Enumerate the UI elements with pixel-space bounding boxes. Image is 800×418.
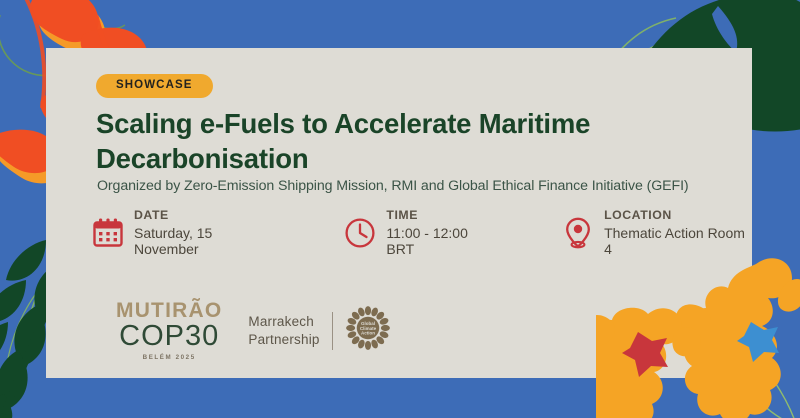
meta-value-time: 11:00 - 12:00 BRT (386, 225, 495, 258)
calendar-icon (91, 216, 125, 250)
showcase-badge: SHOWCASE (96, 74, 213, 98)
mutirao-wordmark: MUTIRÃO (116, 300, 222, 321)
gca-line-3: Action (361, 331, 375, 336)
marrakech-partnership-text: Marrakech Partnership (248, 313, 331, 348)
organizer-text: Organized by Zero-Emission Shipping Miss… (97, 178, 689, 194)
meta-item-location: LOCATION Thematic Action Room 4 (561, 208, 751, 258)
marrakech-line-1: Marrakech (248, 313, 319, 330)
event-poster: SHOWCASE Scaling e-Fuels to Accelerate M… (0, 0, 800, 418)
logo-divider (332, 312, 333, 350)
meta-value-location: Thematic Action Room 4 (604, 225, 751, 258)
location-pin-icon (561, 216, 595, 250)
belem-2025-text: BELÉM 2025 (116, 355, 222, 361)
meta-label-location: LOCATION (604, 208, 751, 223)
global-climate-action-icon: Global Climate Action (345, 305, 391, 356)
event-card: SHOWCASE Scaling e-Fuels to Accelerate M… (46, 48, 752, 378)
logo-row: MUTIRÃO COP30 BELÉM 2025 Marrakech Partn… (116, 300, 391, 361)
marrakech-line-2: Partnership (248, 331, 319, 348)
clock-icon (343, 216, 377, 250)
meta-item-time: TIME 11:00 - 12:00 BRT (343, 208, 495, 258)
meta-value-date: Saturday, 15 November (134, 225, 275, 258)
cop30-wordmark: COP30 (116, 322, 222, 351)
meta-item-date: DATE Saturday, 15 November (91, 208, 275, 258)
marrakech-partnership-logo: Marrakech Partnership (248, 305, 390, 356)
meta-label-time: TIME (386, 208, 495, 223)
event-meta-row: DATE Saturday, 15 November TIME 11:00 - … (91, 208, 751, 258)
meta-label-date: DATE (134, 208, 275, 223)
page-title: Scaling e-Fuels to Accelerate Maritime D… (96, 106, 726, 176)
mutirao-cop30-logo: MUTIRÃO COP30 BELÉM 2025 (116, 300, 222, 361)
